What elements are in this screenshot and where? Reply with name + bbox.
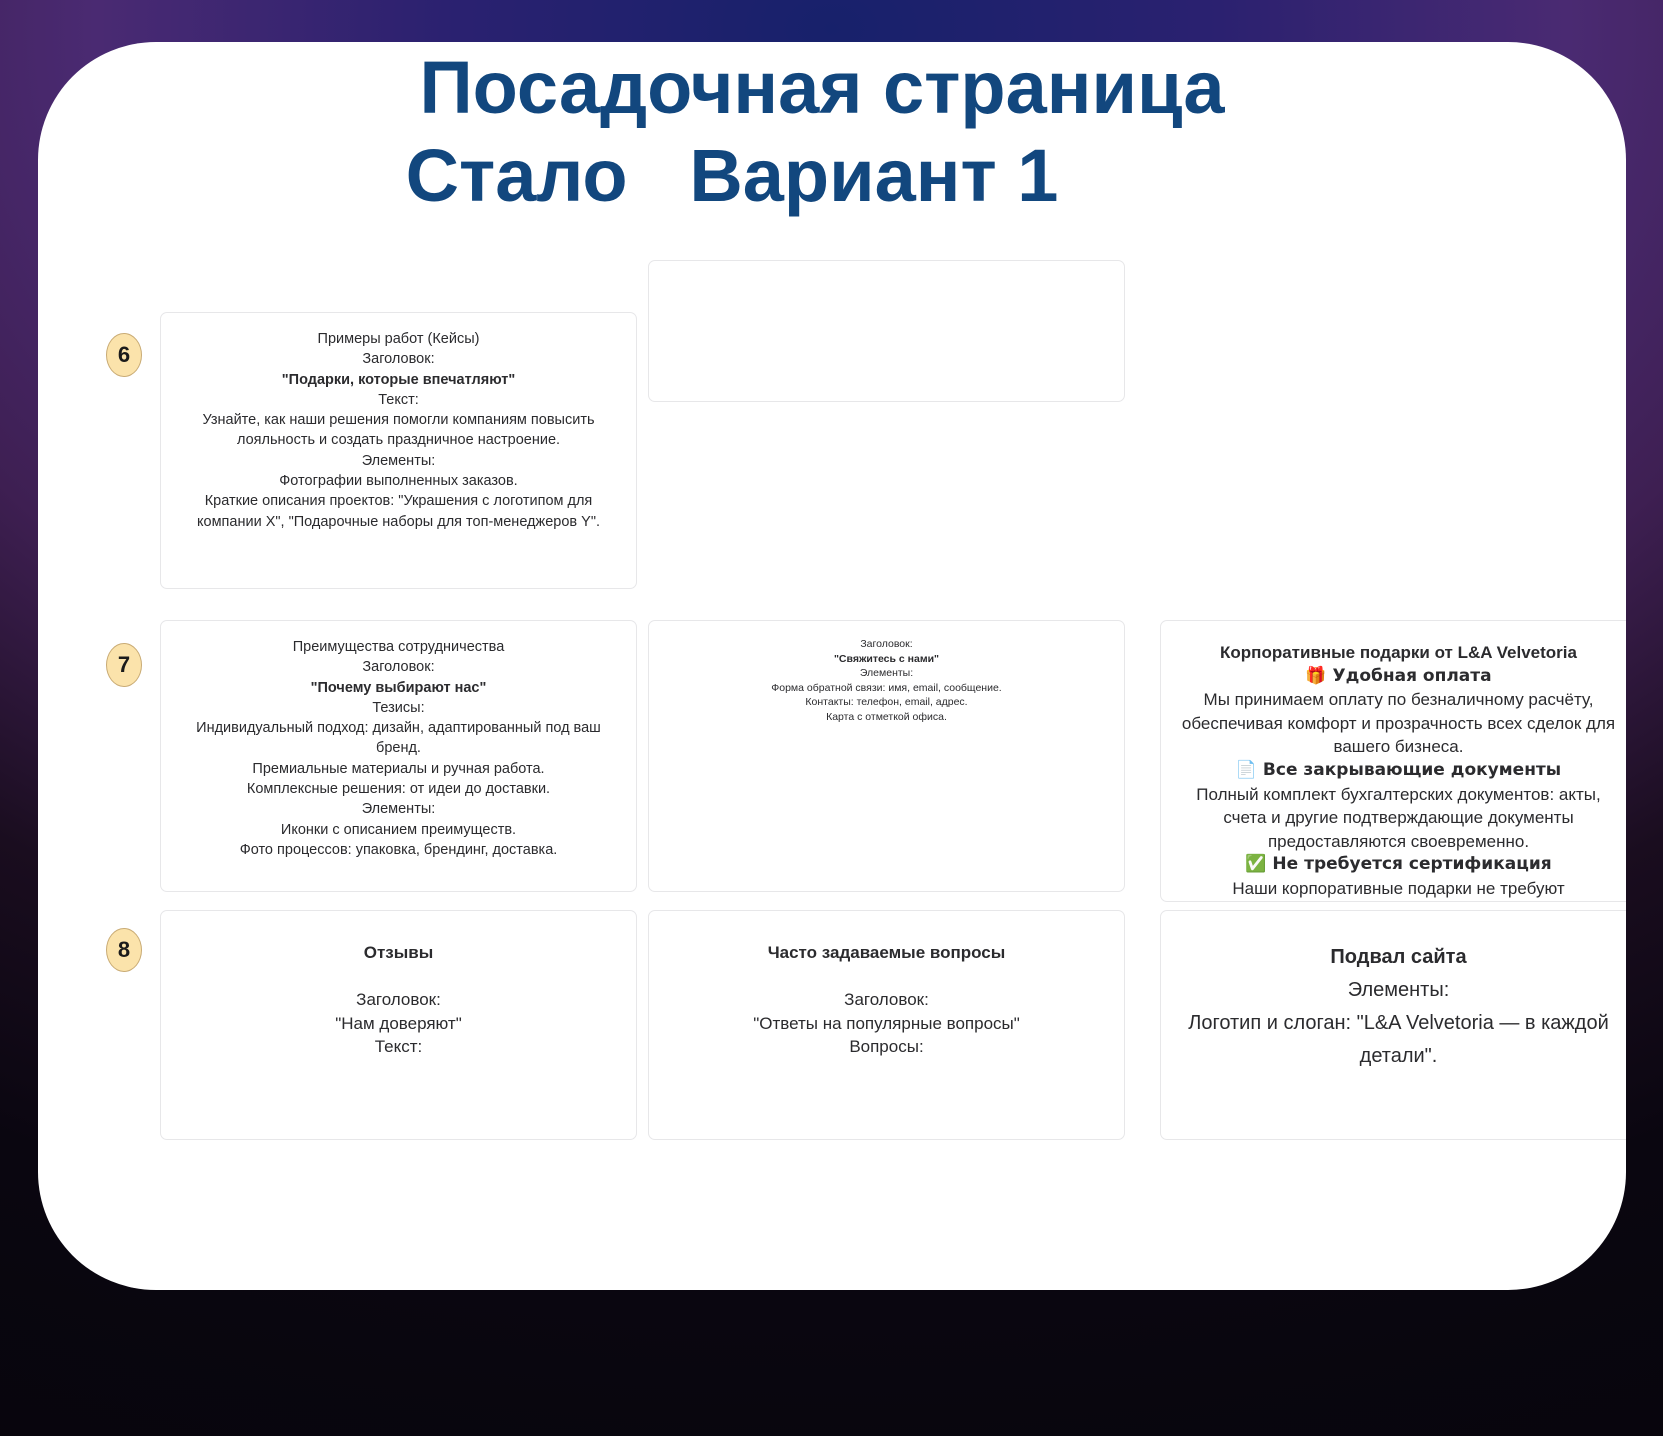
reviews-line-2: Заголовок: xyxy=(175,988,622,1012)
contacts-card[interactable]: Заголовок: "Свяжитесь с нами" Элементы: … xyxy=(648,620,1125,892)
cases-line-2: "Подарки, которые впечатляют" xyxy=(175,370,622,390)
contacts-line-2: Элементы: xyxy=(663,666,1110,681)
adv-line-4: Индивидуальный подход: дизайн, адаптиров… xyxy=(175,718,622,759)
footer-line-1: Элементы: xyxy=(1175,974,1622,1007)
advantages-card[interactable]: Преимущества сотрудничества Заголовок: "… xyxy=(160,620,637,892)
footer-title: Подвал сайта xyxy=(1175,941,1622,974)
faq-line-4: Вопросы: xyxy=(663,1035,1110,1059)
reviews-card[interactable]: Отзывы Заголовок: "Нам доверяют" Текст: xyxy=(160,910,637,1140)
adv-line-5: Премиальные материалы и ручная работа. xyxy=(175,759,622,779)
gifts-payment-body: Мы принимаем оплату по безналичному расч… xyxy=(1175,688,1622,759)
adv-line-1: Заголовок: xyxy=(175,657,622,677)
adv-line-2: "Почему выбирают нас" xyxy=(175,678,622,698)
cards-board: 6 Примеры работ (Кейсы) Заголовок: "Пода… xyxy=(38,300,1626,1140)
cases-card[interactable]: Примеры работ (Кейсы) Заголовок: "Подарк… xyxy=(160,312,637,589)
row-badge-7: 7 xyxy=(106,643,142,687)
gifts-title: Корпоративные подарки от L&A Velvetoria xyxy=(1175,641,1622,665)
adv-line-9: Фото процессов: упаковка, брендинг, дост… xyxy=(175,840,622,860)
faq-title: Часто задаваемые вопросы xyxy=(663,941,1110,965)
faq-card[interactable]: Часто задаваемые вопросы Заголовок: "Отв… xyxy=(648,910,1125,1140)
reviews-title: Отзывы xyxy=(175,941,622,965)
slide-sheet: Посадочная страница Стало Вариант 1 6 Пр… xyxy=(38,42,1626,1290)
gifts-documents-body: Полный комплект бухгалтерских документов… xyxy=(1175,783,1622,854)
gifts-certification-body: Наши корпоративные подарки не требуют се… xyxy=(1175,877,1622,902)
page-title: Посадочная страница Стало Вариант 1 xyxy=(38,42,1626,220)
adv-line-6: Комплексные решения: от идеи до доставки… xyxy=(175,779,622,799)
row-badge-6: 6 xyxy=(106,333,142,377)
reviews-spacer xyxy=(175,965,622,989)
cases-line-5: Элементы: xyxy=(175,451,622,471)
faq-spacer xyxy=(663,965,1110,989)
adv-line-8: Иконки с описанием преимуществ. xyxy=(175,820,622,840)
row-badge-8: 8 xyxy=(106,928,142,972)
row-6: 6 Примеры работ (Кейсы) Заголовок: "Пода… xyxy=(38,300,1626,600)
adv-line-3: Тезисы: xyxy=(175,698,622,718)
empty-card[interactable] xyxy=(648,260,1125,402)
adv-line-0: Преимущества сотрудничества xyxy=(175,637,622,657)
cases-line-0: Примеры работ (Кейсы) xyxy=(175,329,622,349)
contacts-line-5: Карта с отметкой офиса. xyxy=(663,710,1110,725)
reviews-line-3: "Нам доверяют" xyxy=(175,1012,622,1036)
gifts-payment-heading: 🎁 Удобная оплата xyxy=(1175,665,1622,689)
contacts-line-4: Контакты: телефон, email, адрес. xyxy=(663,695,1110,710)
cases-line-4: Узнайте, как наши решения помогли компан… xyxy=(175,410,622,451)
footer-line-2: Логотип и слоган: "L&A Velvetoria — в ка… xyxy=(1175,1007,1622,1073)
corporate-gifts-card[interactable]: Корпоративные подарки от L&A Velvetoria … xyxy=(1160,620,1626,902)
gifts-certification-heading: ✅ Не требуется сертификация xyxy=(1175,853,1622,877)
faq-line-2: Заголовок: xyxy=(663,988,1110,1012)
row-8: 8 Отзывы Заголовок: "Нам доверяют" Текст… xyxy=(38,910,1626,1140)
reviews-line-4: Текст: xyxy=(175,1035,622,1059)
footer-card[interactable]: Подвал сайта Элементы: Логотип и слоган:… xyxy=(1160,910,1626,1140)
contacts-line-0: Заголовок: xyxy=(663,637,1110,652)
contacts-line-3: Форма обратной связи: имя, email, сообще… xyxy=(663,681,1110,696)
row-7: 7 Преимущества сотрудничества Заголовок:… xyxy=(38,620,1626,900)
cases-line-1: Заголовок: xyxy=(175,349,622,369)
cases-line-7: Краткие описания проектов: "Украшения с … xyxy=(175,491,622,532)
faq-line-3: "Ответы на популярные вопросы" xyxy=(663,1012,1110,1036)
cases-line-3: Текст: xyxy=(175,390,622,410)
cases-line-6: Фотографии выполненных заказов. xyxy=(175,471,622,491)
title-line-1: Посадочная страница xyxy=(38,44,1626,132)
title-line-2: Стало Вариант 1 xyxy=(38,132,1626,220)
contacts-line-1: "Свяжитесь с нами" xyxy=(663,652,1110,667)
gifts-documents-heading: 📄 Все закрывающие документы xyxy=(1175,759,1622,783)
adv-line-7: Элементы: xyxy=(175,799,622,819)
